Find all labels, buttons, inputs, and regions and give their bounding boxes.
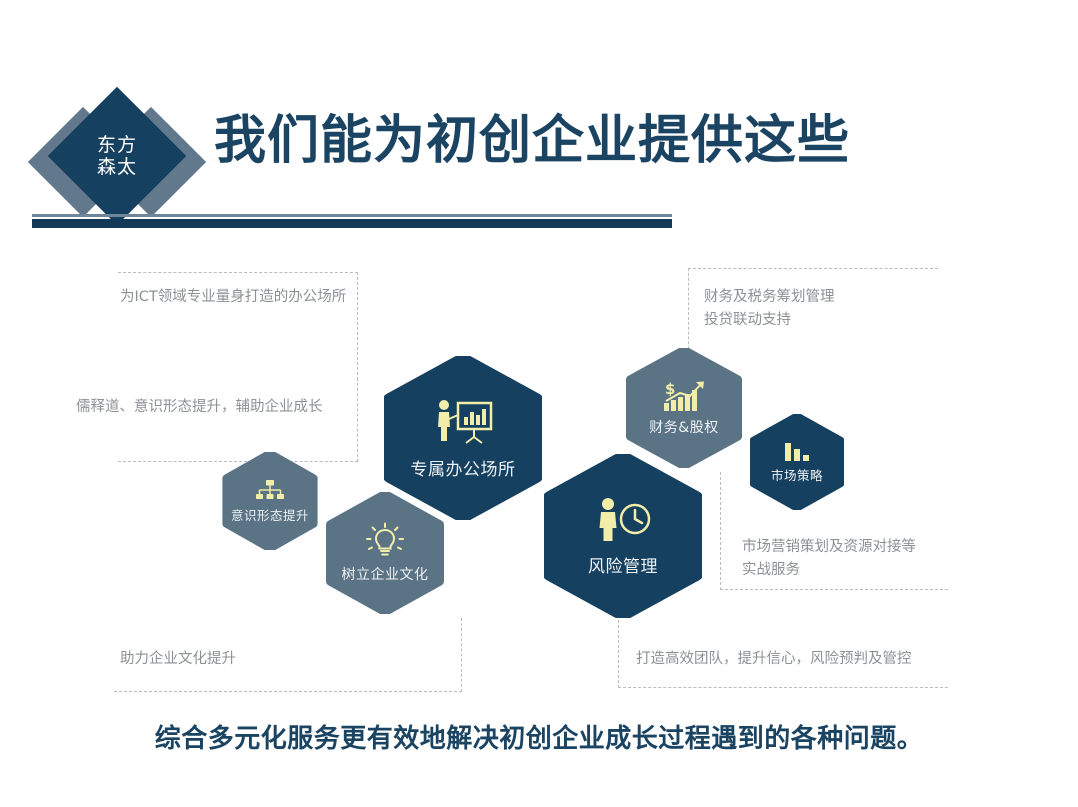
header-rule-thick bbox=[32, 219, 672, 228]
hexagon-risk[interactable]: 风险管理 bbox=[544, 454, 702, 618]
logo-text: 东方 森太 bbox=[68, 107, 166, 205]
person-clock-icon bbox=[594, 496, 652, 544]
hexagon-ideology[interactable]: 意识形态提升 bbox=[222, 452, 318, 550]
bar-chart-icon bbox=[782, 441, 812, 463]
hexagon-finance[interactable]: $ 财务&股权 bbox=[626, 348, 742, 468]
slide-header: 东方 森太 我们能为初创企业提供这些 bbox=[0, 0, 1078, 240]
ideology-note: 儒释道、意识形态提升，辅助企业成长 bbox=[76, 396, 376, 419]
hexagon-office-label: 专属办公场所 bbox=[411, 455, 516, 480]
presenter-chart-icon bbox=[431, 397, 495, 447]
hexagon-finance-label: 财务&股权 bbox=[649, 417, 718, 437]
office-note: 为ICT领域专业量身打造的办公场所 bbox=[120, 286, 410, 309]
hexagon-culture-label: 树立企业文化 bbox=[342, 564, 429, 584]
market-note: 市场营销策划及资源对接等 实战服务 bbox=[742, 536, 978, 583]
hexagon-market-label: 市场策略 bbox=[771, 465, 823, 484]
lightbulb-icon bbox=[365, 522, 405, 560]
header-rule-thin bbox=[32, 214, 672, 217]
connector-ideology bbox=[118, 378, 358, 462]
page-title: 我们能为初创企业提供这些 bbox=[214, 112, 974, 170]
risk-note: 打造高效团队，提升信心，风险预判及管控 bbox=[636, 648, 966, 671]
org-hierarchy-icon bbox=[255, 479, 285, 503]
slide-caption: 综合多元化服务更有效地解决初创企业成长过程遇到的各种问题。 bbox=[0, 718, 1078, 755]
logo-text-line2: 森太 bbox=[97, 156, 137, 178]
svg-text:$: $ bbox=[665, 380, 675, 398]
hexagon-ideology-label: 意识形态提升 bbox=[231, 505, 309, 524]
dollar-growth-chart-icon: $ bbox=[660, 379, 708, 413]
logo-text-line1: 东方 bbox=[97, 134, 137, 156]
finance-note: 财务及税务筹划管理 投贷联动支持 bbox=[704, 286, 964, 333]
hexagon-market[interactable]: 市场策略 bbox=[750, 414, 844, 510]
hexagon-risk-label: 风险管理 bbox=[588, 552, 658, 577]
hexagon-office[interactable]: 专属办公场所 bbox=[384, 356, 542, 520]
culture-note: 助力企业文化提升 bbox=[120, 648, 420, 671]
company-logo: 东方 森太 bbox=[38, 93, 190, 233]
